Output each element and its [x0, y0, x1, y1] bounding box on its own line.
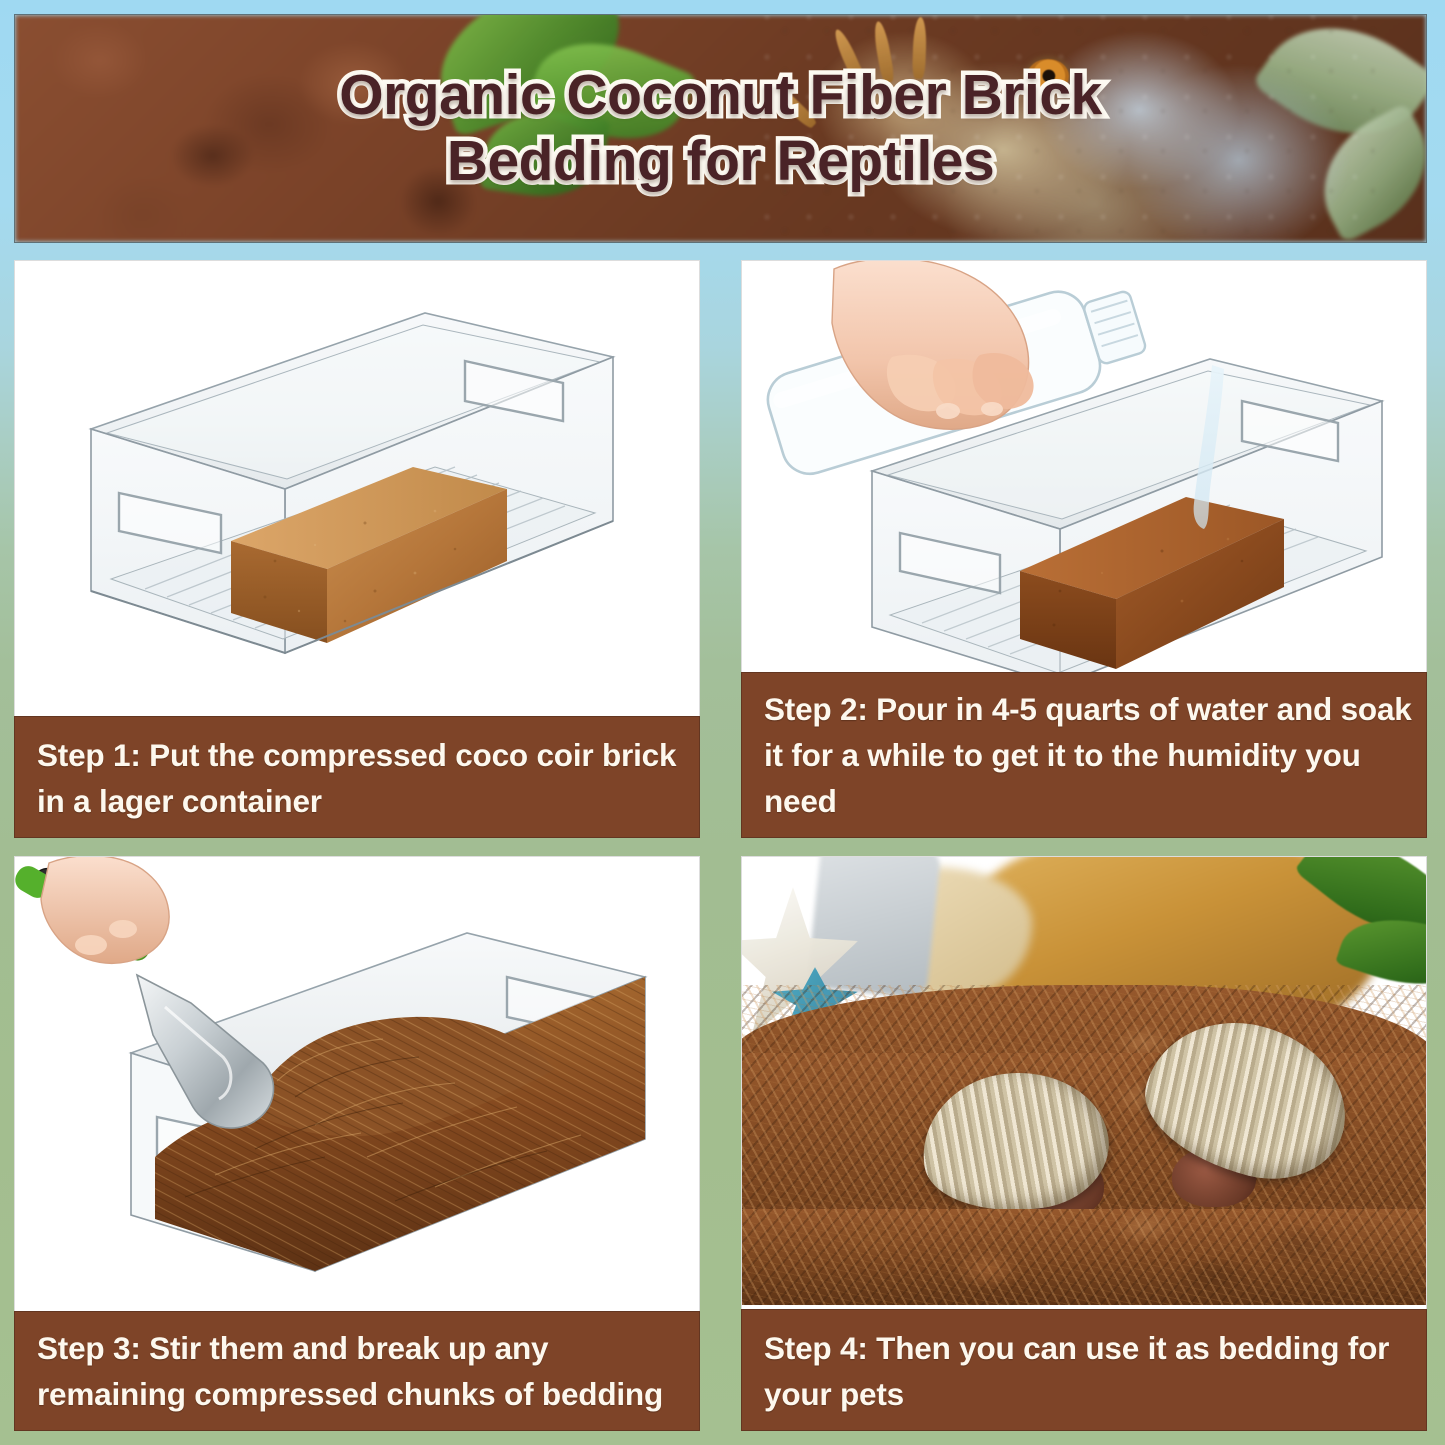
step-2-photo — [741, 260, 1427, 672]
header-banner: Organic Coconut Fiber Brick Bedding for … — [14, 14, 1427, 243]
coir-fiber-texture — [741, 1209, 1427, 1305]
step-card-3: Step 3: Stir them and break up any remai… — [14, 856, 700, 1431]
step-4-photo — [741, 856, 1427, 1309]
feeding-dish — [806, 856, 941, 999]
step-1-caption: Step 1: Put the compressed coco coir bri… — [14, 716, 700, 838]
coco-coir-foreground — [741, 1209, 1427, 1305]
step-card-2: Step 2: Pour in 4-5 quarts of water and … — [741, 260, 1427, 838]
step-1-photo — [14, 260, 700, 716]
infographic-page: Organic Coconut Fiber Brick Bedding for … — [0, 0, 1445, 1445]
steps-grid: Step 1: Put the compressed coco coir bri… — [14, 260, 1427, 1431]
stirring-coir-with-trowel-illustration — [15, 857, 700, 1290]
step-3-caption: Step 3: Stir them and break up any remai… — [14, 1311, 700, 1431]
hand — [41, 857, 169, 963]
iguana-eye — [1027, 59, 1069, 93]
step-card-1: Step 1: Put the compressed coco coir bri… — [14, 260, 700, 838]
step-3-photo — [14, 856, 700, 1311]
step-card-4: Step 4: Then you can use it as bedding f… — [741, 856, 1427, 1431]
step-4-caption: Step 4: Then you can use it as bedding f… — [741, 1309, 1427, 1431]
storage-bin-with-brick-illustration — [15, 261, 700, 694]
step-2-caption: Step 2: Pour in 4-5 quarts of water and … — [741, 672, 1427, 838]
pouring-water-into-bin-illustration — [742, 261, 1427, 672]
